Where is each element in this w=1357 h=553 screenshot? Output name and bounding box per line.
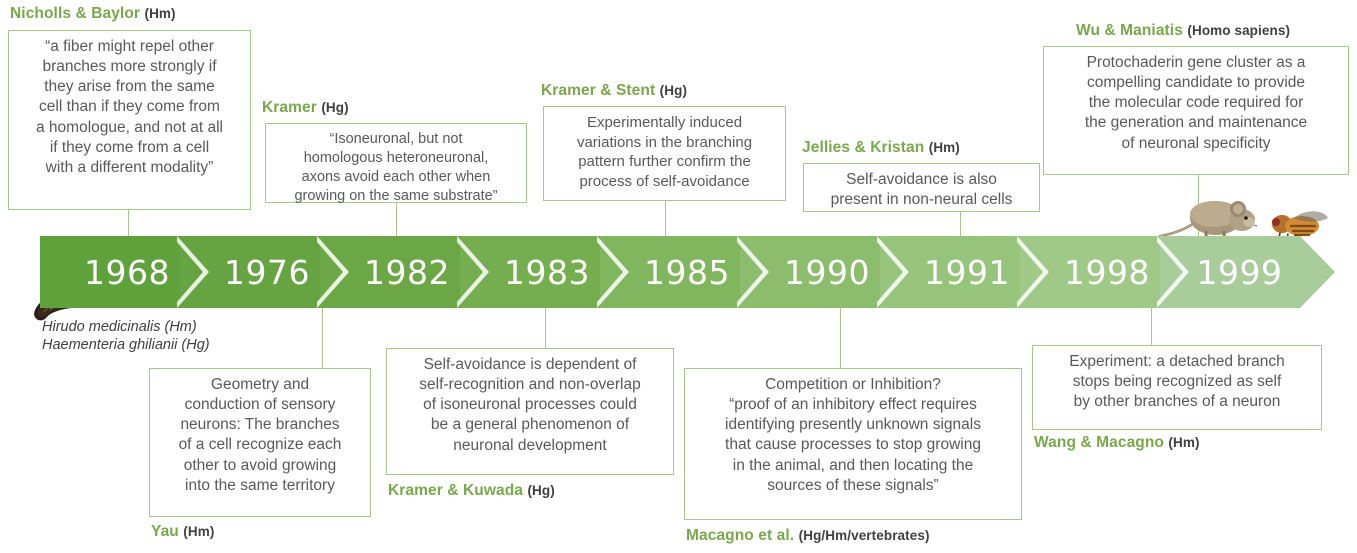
event-caption-macagno: Macagno et al. (Hg/Hm/vertebrates) [686,527,930,545]
caption-organism: (Homo sapiens) [1187,23,1290,38]
caption-author: Kramer [262,99,317,116]
year-label: 1976 [218,253,310,292]
caption-author: Wu & Maniatis [1076,22,1183,39]
year-label: 1985 [638,253,730,292]
event-caption-kramer-kuwada: Kramer & Kuwada (Hg) [388,482,555,500]
caption-organism: (Hg) [321,100,348,115]
event-text: “a fiber might repel other branches more… [17,37,242,178]
event-box-jellies-kristan[interactable]: Self-avoidance is also present in non-ne… [803,163,1040,212]
caption-author: Nicholls & Baylor [10,5,140,22]
event-box-yau[interactable]: Geometry and conduction of sensory neuro… [149,368,371,517]
event-caption-jellies-kristan: Jellies & Kristan (Hm) [802,139,960,157]
event-box-macagno[interactable]: Competition or Inhibition? “proof of an … [684,368,1022,520]
species-legend: Hirudo medicinalis (Hm) Haementeria ghil… [42,318,210,354]
event-box-nicholls-baylor[interactable]: “a fiber might repel other branches more… [8,30,251,210]
event-caption-kramer-stent: Kramer & Stent (Hg) [541,82,687,100]
caption-organism: (Hm) [1168,435,1199,450]
event-box-wang-macagno[interactable]: Experiment: a detached branch stops bein… [1032,345,1322,430]
event-caption-kramer: Kramer (Hg) [262,99,349,117]
year-label: 1998 [1058,253,1150,292]
year-label: 1982 [358,253,450,292]
event-text: Geometry and conduction of sensory neuro… [158,375,362,496]
caption-author: Wang & Macagno [1034,434,1164,451]
caption-author: Kramer & Kuwada [388,482,523,499]
event-box-kramer[interactable]: “Isoneuronal, but not homologous heteron… [265,123,527,203]
event-box-wu-maniatis[interactable]: Protochaderin gene cluster as a compelli… [1043,46,1349,175]
year-label: 1983 [498,253,590,292]
year-label: 1991 [918,253,1010,292]
caption-organism: (Hm) [929,140,960,155]
event-text: “Isoneuronal, but not homologous heteron… [274,130,518,205]
caption-organism: (Hg/Hm/vertebrates) [799,528,930,543]
event-text: Self-avoidance is dependent of self-reco… [395,355,665,456]
event-box-kramer-kuwada[interactable]: Self-avoidance is dependent of self-reco… [386,348,674,475]
caption-author: Macagno et al. [686,527,794,544]
event-box-kramer-stent[interactable]: Experimentally induced variations in the… [543,106,786,201]
timeline-figure: 1968 1976 1982 1983 1985 [0,0,1357,553]
event-caption-yau: Yau (Hm) [151,523,214,541]
event-caption-wu-maniatis: Wu & Maniatis (Homo sapiens) [1076,22,1290,40]
year-label: 1999 [1197,253,1283,292]
caption-author: Yau [151,523,179,540]
event-text: Protochaderin gene cluster as a compelli… [1052,53,1340,154]
caption-organism: (Hm) [183,524,214,539]
timeline-bar: 1968 1976 1982 1983 1985 [40,236,1335,308]
year-label: 1968 [78,253,170,292]
event-text: Experimentally induced variations in the… [552,113,777,191]
caption-organism: (Hg) [527,483,554,498]
event-text: Experiment: a detached branch stops bein… [1041,352,1313,412]
event-text: Competition or Inhibition? “proof of an … [693,375,1013,496]
caption-author: Kramer & Stent [541,82,655,99]
caption-organism: (Hm) [144,6,175,21]
caption-author: Jellies & Kristan [802,139,924,156]
timeline-segment-1968[interactable]: 1968 [40,236,208,308]
event-text: Self-avoidance is also present in non-ne… [812,170,1031,210]
year-label: 1990 [778,253,870,292]
event-caption-nicholls-baylor: Nicholls & Baylor (Hm) [10,5,176,23]
caption-organism: (Hg) [660,83,687,98]
event-caption-wang-macagno: Wang & Macagno (Hm) [1034,434,1200,452]
